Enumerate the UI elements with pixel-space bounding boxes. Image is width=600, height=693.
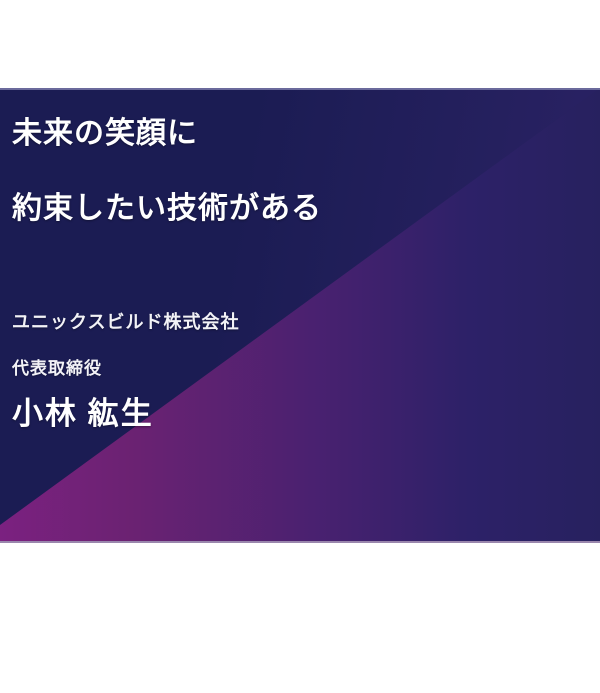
headline-line-1: 未来の笑顔に [12, 119, 198, 149]
headline-line-2: 約束したい技術がある [12, 194, 322, 224]
page-root: 未来の笑顔に 約束したい技術がある ユニックスビルド株式会社 代表取締役 小林 … [0, 0, 600, 693]
person-role: 代表取締役 [12, 360, 102, 377]
banner-content: 未来の笑顔に 約束したい技術がある ユニックスビルド株式会社 代表取締役 小林 … [0, 88, 600, 543]
hero-banner: 未来の笑顔に 約束したい技術がある ユニックスビルド株式会社 代表取締役 小林 … [0, 88, 600, 543]
company-name: ユニックスビルド株式会社 [12, 313, 239, 331]
person-name: 小林 紘生 [12, 398, 154, 429]
